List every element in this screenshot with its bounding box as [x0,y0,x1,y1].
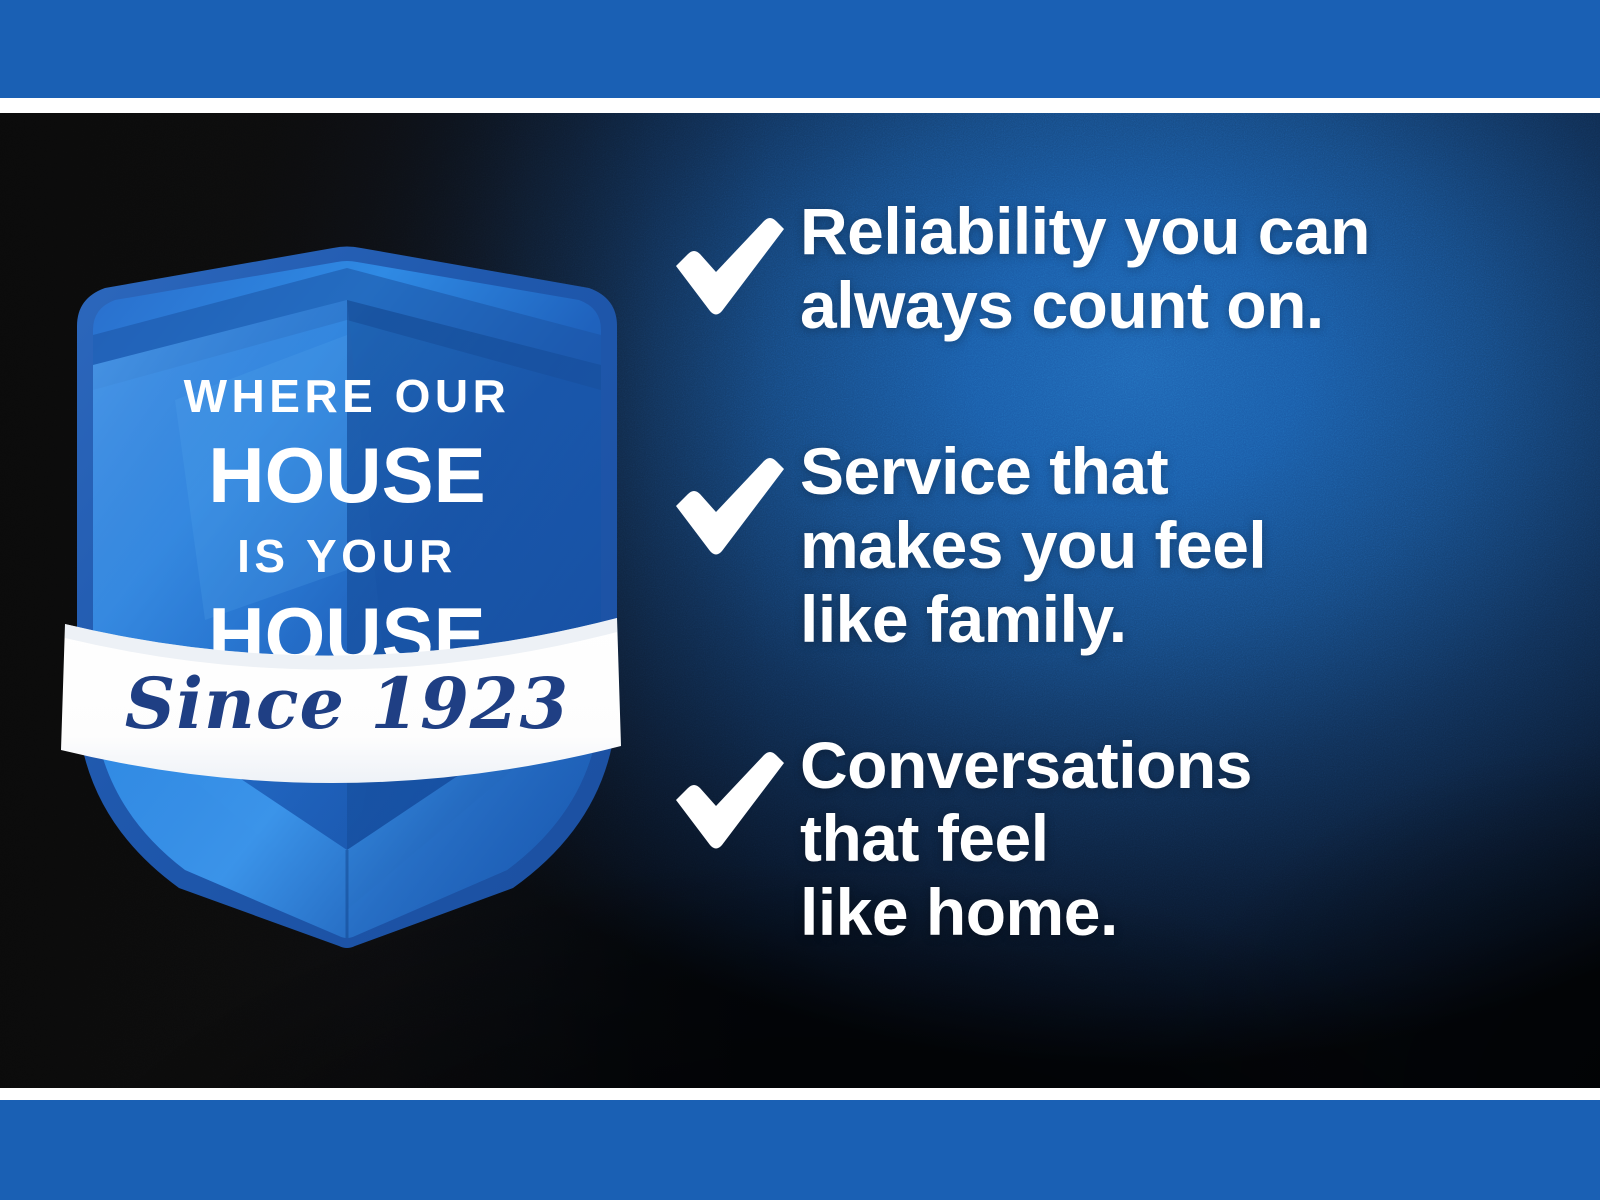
benefit-text-2: Service that makes you feel like family. [800,435,1568,657]
shield-line-2: HOUSE [208,431,485,519]
benefit-text-1: Reliability you can always count on. [800,195,1568,343]
checkmark-icon [668,435,800,561]
benefit-item-1: Reliability you can always count on. [668,195,1568,343]
shield-logo: WHERE OUR HOUSE IS YOUR HOUSE Since 1923 [55,150,625,950]
checkmark-icon [668,729,800,855]
benefits-list: Reliability you can always count on. Ser… [668,195,1568,950]
bottom-brand-bar [0,1100,1600,1200]
top-brand-bar [0,0,1600,98]
benefit-item-2: Service that makes you feel like family. [668,435,1568,657]
shield-line-1: WHERE OUR [184,370,511,422]
since-banner-text: Since 1923 [125,662,569,745]
top-white-divider [0,98,1600,113]
bottom-white-divider [0,1088,1600,1100]
shield-line-3: IS YOUR [237,530,457,582]
benefit-text-3: Conversations that feel like home. [800,729,1568,951]
promo-graphic: WHERE OUR HOUSE IS YOUR HOUSE Since 1923… [0,0,1600,1200]
benefit-item-3: Conversations that feel like home. [668,729,1568,951]
checkmark-icon [668,195,800,321]
